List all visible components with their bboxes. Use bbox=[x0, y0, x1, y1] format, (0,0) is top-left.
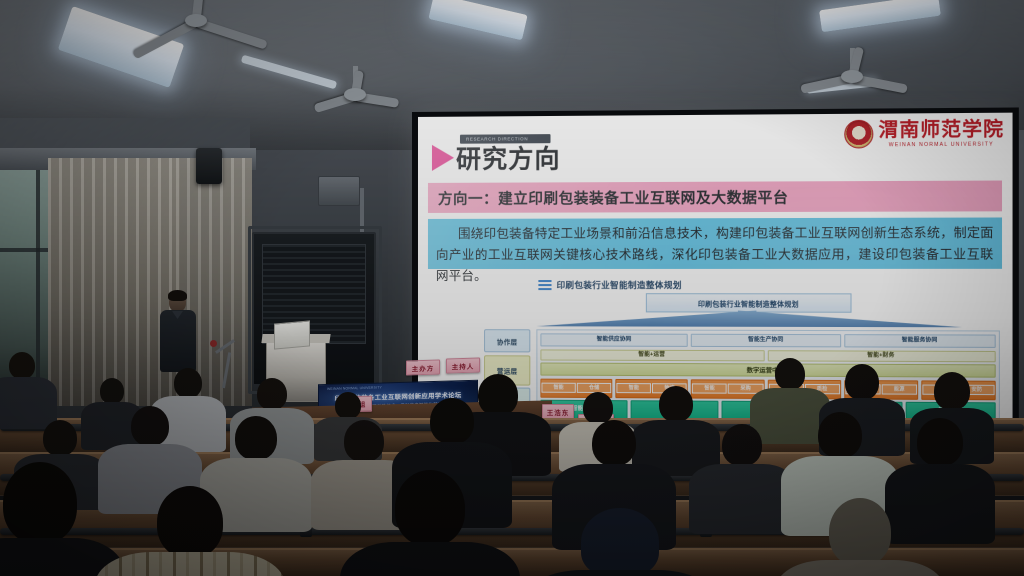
diagram-cell-part: 智能 bbox=[541, 383, 575, 393]
presenter bbox=[160, 292, 196, 372]
audience-head bbox=[659, 386, 693, 422]
audience-torso bbox=[689, 464, 795, 534]
audience-head bbox=[3, 462, 77, 544]
direction-description-band: 围绕印包装备特定工业场景和前沿信息技术，构建印包装备工业互联网创新生态系统，制定… bbox=[428, 217, 1002, 269]
diagram-cell-part: 能源 bbox=[881, 384, 917, 394]
diagram-cell: 智能+财务 bbox=[767, 350, 995, 362]
triangle-marker-icon bbox=[432, 145, 454, 171]
slide-title-tag: RESEARCH DIRECTION bbox=[460, 134, 550, 144]
lecture-hall-photo: 渭南师范学院 WEINAN NORMAL UNIVERSITY RESEARCH… bbox=[0, 0, 1024, 576]
microphone-head bbox=[210, 340, 217, 347]
diagram-cell: 智能+运营 bbox=[540, 349, 764, 361]
audience-torso bbox=[340, 542, 520, 576]
audience-head bbox=[917, 418, 963, 466]
diagram-row-operations: 智能+运营 智能+财务 bbox=[540, 349, 995, 362]
nameplate: 主办方 bbox=[406, 359, 440, 375]
hamburger-icon bbox=[538, 280, 551, 289]
university-logo: 渭南师范学院 WEINAN NORMAL UNIVERSITY bbox=[844, 119, 1004, 149]
audience-head bbox=[157, 486, 223, 558]
laptop bbox=[274, 320, 310, 349]
audience-head bbox=[829, 498, 891, 566]
layer-label-coop: 协作层 bbox=[484, 329, 530, 352]
audience-head bbox=[592, 420, 636, 466]
audience-head bbox=[478, 374, 518, 416]
audience-head bbox=[344, 420, 384, 462]
direction-description-text: 围绕印包装备特定工业场景和前沿信息技术，构建印包装备工业互联网创新生态系统，制定… bbox=[436, 222, 994, 287]
diagram-cell-part: 智能 bbox=[617, 383, 652, 393]
audience-head-with-cap bbox=[581, 508, 659, 576]
audience-head bbox=[131, 406, 169, 446]
wall-speaker bbox=[196, 148, 222, 184]
fan-hub bbox=[344, 88, 366, 101]
wall-control-box bbox=[318, 176, 360, 206]
direction-heading-band: 方向一：建立印刷包装装备工业互联网及大数据平台 bbox=[428, 181, 1002, 213]
university-name-en: WEINAN NORMAL UNIVERSITY bbox=[879, 141, 1005, 148]
nameplate: 王浩东 bbox=[542, 404, 574, 419]
audience-head bbox=[818, 412, 862, 458]
university-emblem-icon bbox=[844, 120, 873, 149]
diagram-cell-part: 智能 bbox=[692, 383, 727, 393]
diagram-row-cooperation: 智能供应协同 智能生产协同 智能服务协同 bbox=[540, 333, 995, 348]
audience-head bbox=[43, 420, 77, 456]
audience-head bbox=[100, 378, 124, 404]
audience-torso bbox=[95, 552, 285, 576]
presenter-hair bbox=[168, 290, 187, 301]
nameplate: 主持人 bbox=[446, 357, 480, 373]
audience-head bbox=[395, 470, 465, 546]
fan-hub bbox=[185, 14, 207, 27]
fan-hub bbox=[841, 70, 863, 83]
audience-head bbox=[335, 392, 361, 419]
diagram-roof: 印刷包装行业智能制造整体规划 bbox=[536, 293, 962, 328]
roof-slope-left bbox=[536, 310, 756, 327]
audience-head bbox=[722, 424, 762, 466]
audience-head bbox=[583, 392, 613, 424]
slide-title-stack: RESEARCH DIRECTION 研究方向 bbox=[456, 147, 561, 173]
roof-slope-right bbox=[738, 311, 962, 328]
audience-head bbox=[257, 378, 287, 410]
direction-heading-text: 方向一：建立印刷包装装备工业互联网及大数据平台 bbox=[438, 186, 788, 208]
slide-title-row: RESEARCH DIRECTION 研究方向 bbox=[432, 144, 561, 173]
audience-head bbox=[845, 364, 879, 400]
audience-head bbox=[9, 352, 35, 379]
diagram-cell: 智能供应协同 bbox=[540, 333, 688, 347]
audience-torso bbox=[0, 377, 57, 429]
audience-head bbox=[235, 416, 277, 460]
audience-head bbox=[174, 368, 202, 398]
audience-head bbox=[430, 398, 474, 444]
section-heading: 印刷包装行业智能制造整体规划 bbox=[538, 279, 681, 291]
diagram-cell: 智能服务协同 bbox=[844, 334, 996, 348]
audience-head bbox=[934, 372, 970, 410]
diagram-roof-title: 印刷包装行业智能制造整体规划 bbox=[646, 293, 852, 313]
audience-torso bbox=[885, 464, 995, 544]
page-title: 研究方向 bbox=[456, 147, 561, 173]
audience-head bbox=[775, 358, 805, 390]
diagram-digital-ops-center: 数字运营中心 bbox=[540, 363, 995, 378]
university-name-cn: 渭南师范学院 bbox=[879, 119, 1005, 139]
diagram-cell: 智能生产协同 bbox=[691, 334, 841, 348]
section-heading-text: 印刷包装行业智能制造整体规划 bbox=[557, 279, 682, 291]
presenter-body bbox=[160, 310, 196, 372]
window-mullion bbox=[36, 162, 40, 392]
